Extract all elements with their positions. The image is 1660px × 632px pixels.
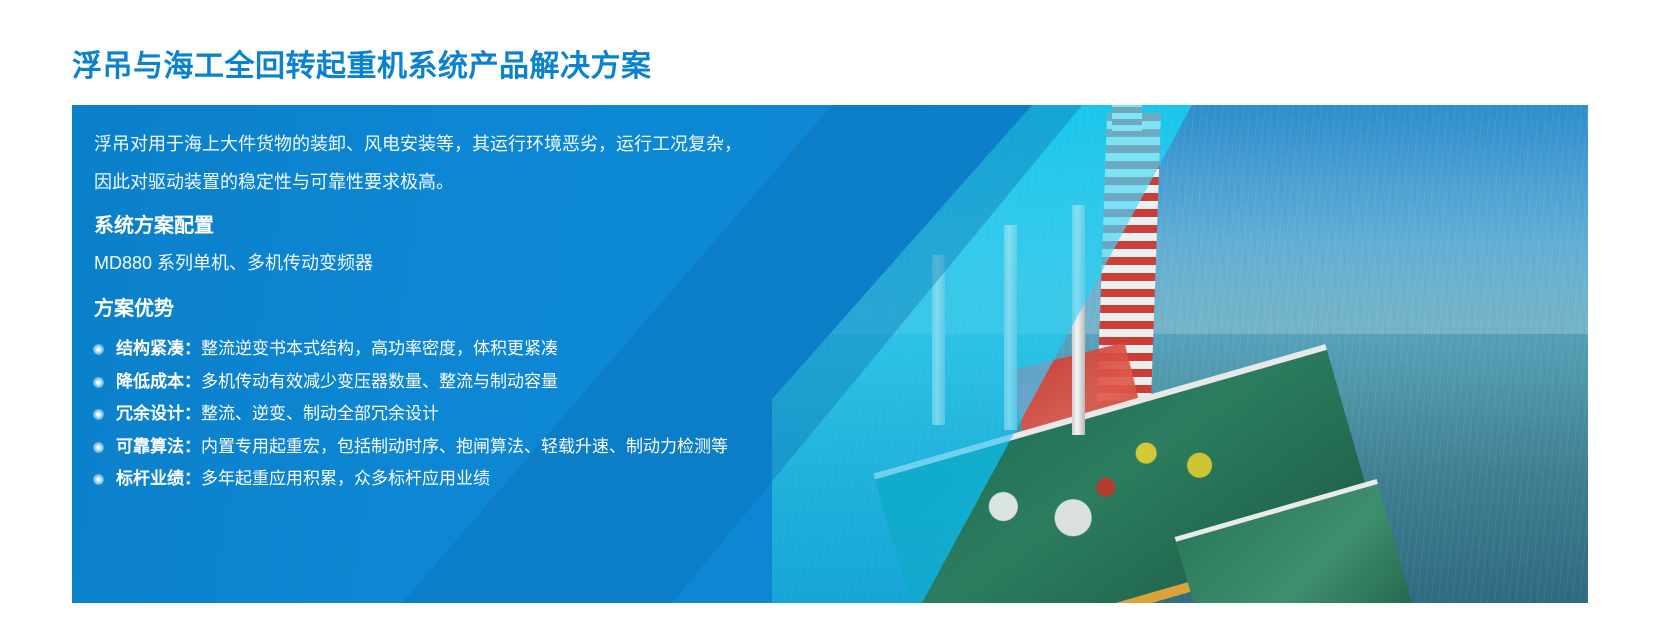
advantage-description: 多年起重应用积累，众多标杆应用业绩	[201, 469, 490, 488]
advantage-label: 标杆业绩	[116, 469, 184, 488]
advantage-label: 结构紧凑	[116, 339, 184, 358]
advantages-block: 方案优势 结构紧凑：整流逆变书本式结构，高功率密度，体积更紧凑 降低成本：多机传…	[94, 297, 728, 496]
advantage-separator: ：	[184, 404, 201, 423]
list-item: 冗余设计：整流、逆变、制动全部冗余设计	[94, 398, 728, 431]
bullet-dot-icon	[94, 378, 103, 387]
advantage-separator: ：	[184, 339, 201, 358]
advantages-list: 结构紧凑：整流逆变书本式结构，高功率密度，体积更紧凑 降低成本：多机传动有效减少…	[94, 333, 728, 496]
system-configuration-block: 系统方案配置 MD880 系列单机、多机传动变频器	[94, 214, 373, 275]
intro-paragraph: 浮吊对用于海上大件货物的装卸、风电安装等，其运行环境恶劣，运行工况复杂， 因此对…	[94, 125, 742, 201]
advantages-heading: 方案优势	[94, 297, 728, 321]
intro-line-1: 浮吊对用于海上大件货物的装卸、风电安装等，其运行环境恶劣，运行工况复杂，	[94, 125, 742, 163]
advantage-description: 内置专用起重宏，包括制动时序、抱闸算法、轻载升速、制动力检测等	[201, 437, 728, 456]
system-configuration-heading: 系统方案配置	[94, 214, 373, 238]
solution-banner: 浮吊对用于海上大件货物的装卸、风电安装等，其运行环境恶劣，运行工况复杂， 因此对…	[72, 105, 1588, 603]
advantage-label: 冗余设计	[116, 404, 184, 423]
advantage-description: 多机传动有效减少变压器数量、整流与制动容量	[201, 372, 558, 391]
advantage-label: 可靠算法	[116, 437, 184, 456]
advantage-description: 整流逆变书本式结构，高功率密度，体积更紧凑	[201, 339, 558, 358]
advantage-separator: ：	[184, 437, 201, 456]
list-item: 标杆业绩：多年起重应用积累，众多标杆应用业绩	[94, 463, 728, 496]
bullet-dot-icon	[94, 443, 103, 452]
system-configuration-value: MD880 系列单机、多机传动变频器	[94, 249, 373, 275]
list-item: 可靠算法：内置专用起重宏，包括制动时序、抱闸算法、轻载升速、制动力检测等	[94, 431, 728, 464]
bullet-dot-icon	[94, 475, 103, 484]
list-item: 结构紧凑：整流逆变书本式结构，高功率密度，体积更紧凑	[94, 333, 728, 366]
bullet-dot-icon	[94, 345, 103, 354]
advantage-separator: ：	[184, 469, 201, 488]
advantage-separator: ：	[184, 372, 201, 391]
list-item: 降低成本：多机传动有效减少变压器数量、整流与制动容量	[94, 366, 728, 399]
advantage-label: 降低成本	[116, 372, 184, 391]
bullet-dot-icon	[94, 410, 103, 419]
page-title: 浮吊与海工全回转起重机系统产品解决方案	[72, 52, 652, 82]
banner-text-content: 浮吊对用于海上大件货物的装卸、风电安装等，其运行环境恶劣，运行工况复杂， 因此对…	[94, 105, 974, 603]
advantage-description: 整流、逆变、制动全部冗余设计	[201, 404, 439, 423]
intro-line-2: 因此对驱动装置的稳定性与可靠性要求极高。	[94, 163, 742, 201]
